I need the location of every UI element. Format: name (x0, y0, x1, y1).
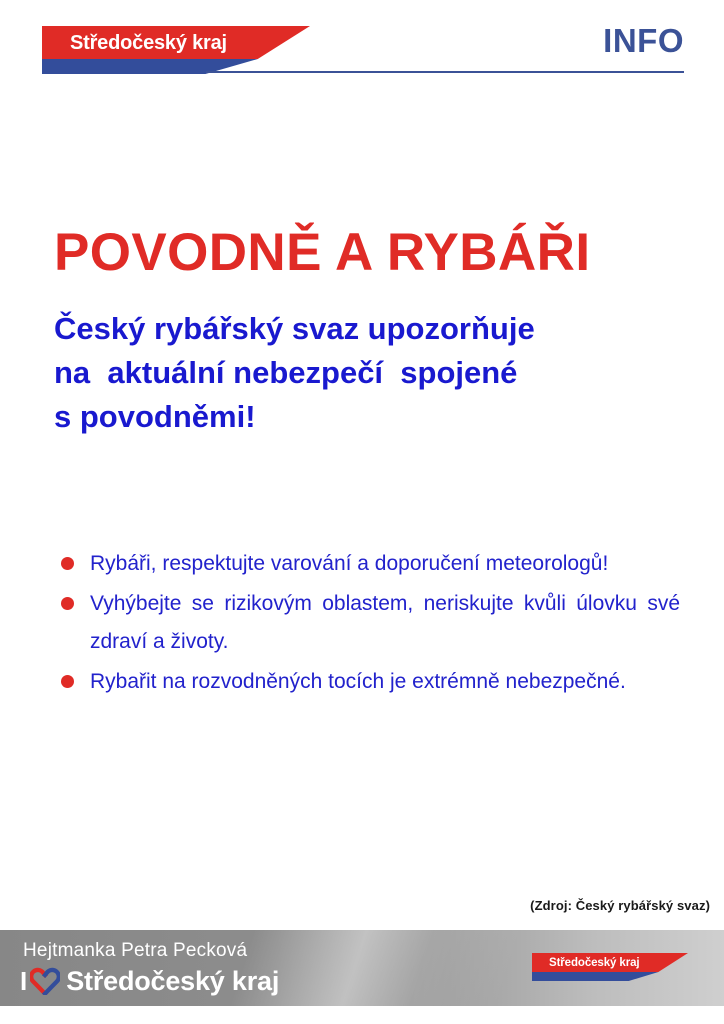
list-item-label: Rybařit na rozvodněných tocích je extrém… (90, 663, 680, 700)
bullet-dot-icon (61, 675, 74, 688)
header-region-flag-logo: Středočeský kraj (42, 26, 310, 74)
subtitle-line: na aktuální nebezpečí spojené (54, 351, 672, 395)
page-header: Středočeský kraj INFO (0, 0, 724, 86)
list-item-label: Rybáři, respektujte varování a doporučen… (90, 545, 680, 582)
subtitle-line: Český rybářský svaz upozorňuje (54, 307, 672, 351)
footer-governor-label: Hejtmanka Petra Pecková (23, 938, 247, 964)
list-item-label: Vyhýbejte se rizikovým oblastem, nerisku… (90, 585, 680, 660)
bullet-dot-icon (61, 557, 74, 570)
heart-icon (30, 967, 60, 995)
header-brand-label: Středočeský kraj (70, 27, 227, 59)
advice-bullet-list: Rybáři, respektujte varování a doporučen… (58, 545, 680, 701)
page-main: POVODNĚ A RYBÁŘI Český rybářský svaz upo… (0, 86, 724, 930)
page-footer: Hejtmanka Petra Pecková I Středočeský kr… (0, 930, 724, 1006)
poster-page: Středočeský kraj INFO POVODNĚ A RYBÁŘI Č… (0, 0, 724, 1024)
list-item: Rybařit na rozvodněných tocích je extrém… (58, 663, 680, 700)
page-title: POVODNĚ A RYBÁŘI (54, 225, 678, 281)
flag-blue-band (532, 972, 688, 981)
footer-flag-label: Středočeský kraj (549, 954, 639, 972)
footer-i-letter: I (20, 968, 27, 994)
footer-brand-block: Hejtmanka Petra Pecková I Středočeský kr… (20, 938, 400, 1000)
subtitle-line: s povodněmi! (54, 395, 672, 439)
source-attribution: (Zdroj: Český rybářský svaz) (530, 898, 710, 913)
footer-slogan: I Středočeský kraj (20, 963, 279, 999)
footer-region-label: Středočeský kraj (66, 968, 279, 995)
list-item: Rybáři, respektujte varování a doporučen… (58, 545, 680, 582)
header-info-label: INFO (603, 24, 684, 57)
list-item: Vyhýbejte se rizikovým oblastem, nerisku… (58, 585, 680, 660)
header-divider-line (206, 71, 684, 73)
bullet-dot-icon (61, 597, 74, 610)
page-subtitle: Český rybářský svaz upozorňuje na aktuál… (54, 307, 672, 439)
footer-region-flag-logo: Středočeský kraj (532, 953, 688, 981)
